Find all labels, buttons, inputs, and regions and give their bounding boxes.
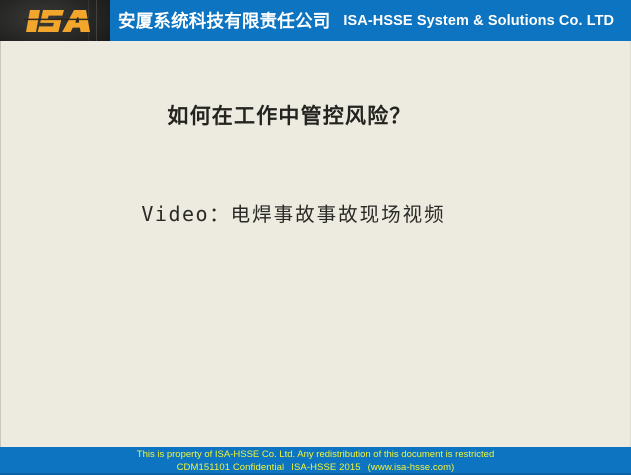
footer-document-id: CDM151101 Confidential: [177, 462, 285, 473]
company-name-chinese: 安厦系统科技有限责任公司: [110, 8, 330, 33]
isa-logo-icon: [24, 8, 94, 34]
company-name-english: ISA-HSSE System & Solutions Co. LTD: [330, 13, 614, 29]
presentation-slide: 安厦系统科技有限责任公司 ISA-HSSE System & Solutions…: [0, 0, 631, 475]
footer-document-meta: CDM151101 ConfidentialISA-HSSE 2015(www.…: [0, 461, 631, 474]
slide-footer-banner: This is property of ISA-HSSE Co. Ltd. An…: [0, 447, 631, 475]
company-logo-panel: [0, 0, 110, 41]
slide-title-heading: 如何在工作中管控风险？: [0, 100, 631, 130]
footer-website: (www.isa-hsse.com): [368, 462, 455, 473]
footer-copyright-notice: This is property of ISA-HSSE Co. Ltd. An…: [0, 447, 631, 461]
header-company-title: 安厦系统科技有限责任公司 ISA-HSSE System & Solutions…: [110, 0, 614, 41]
slide-header-banner: 安厦系统科技有限责任公司 ISA-HSSE System & Solutions…: [0, 0, 631, 41]
footer-org-year: ISA-HSSE 2015: [291, 462, 360, 473]
video-title-chinese: 电焊事故事故现场视频: [231, 203, 446, 226]
video-label: Video：: [141, 202, 230, 226]
video-reference-line: Video：电焊事故事故现场视频: [0, 198, 631, 227]
